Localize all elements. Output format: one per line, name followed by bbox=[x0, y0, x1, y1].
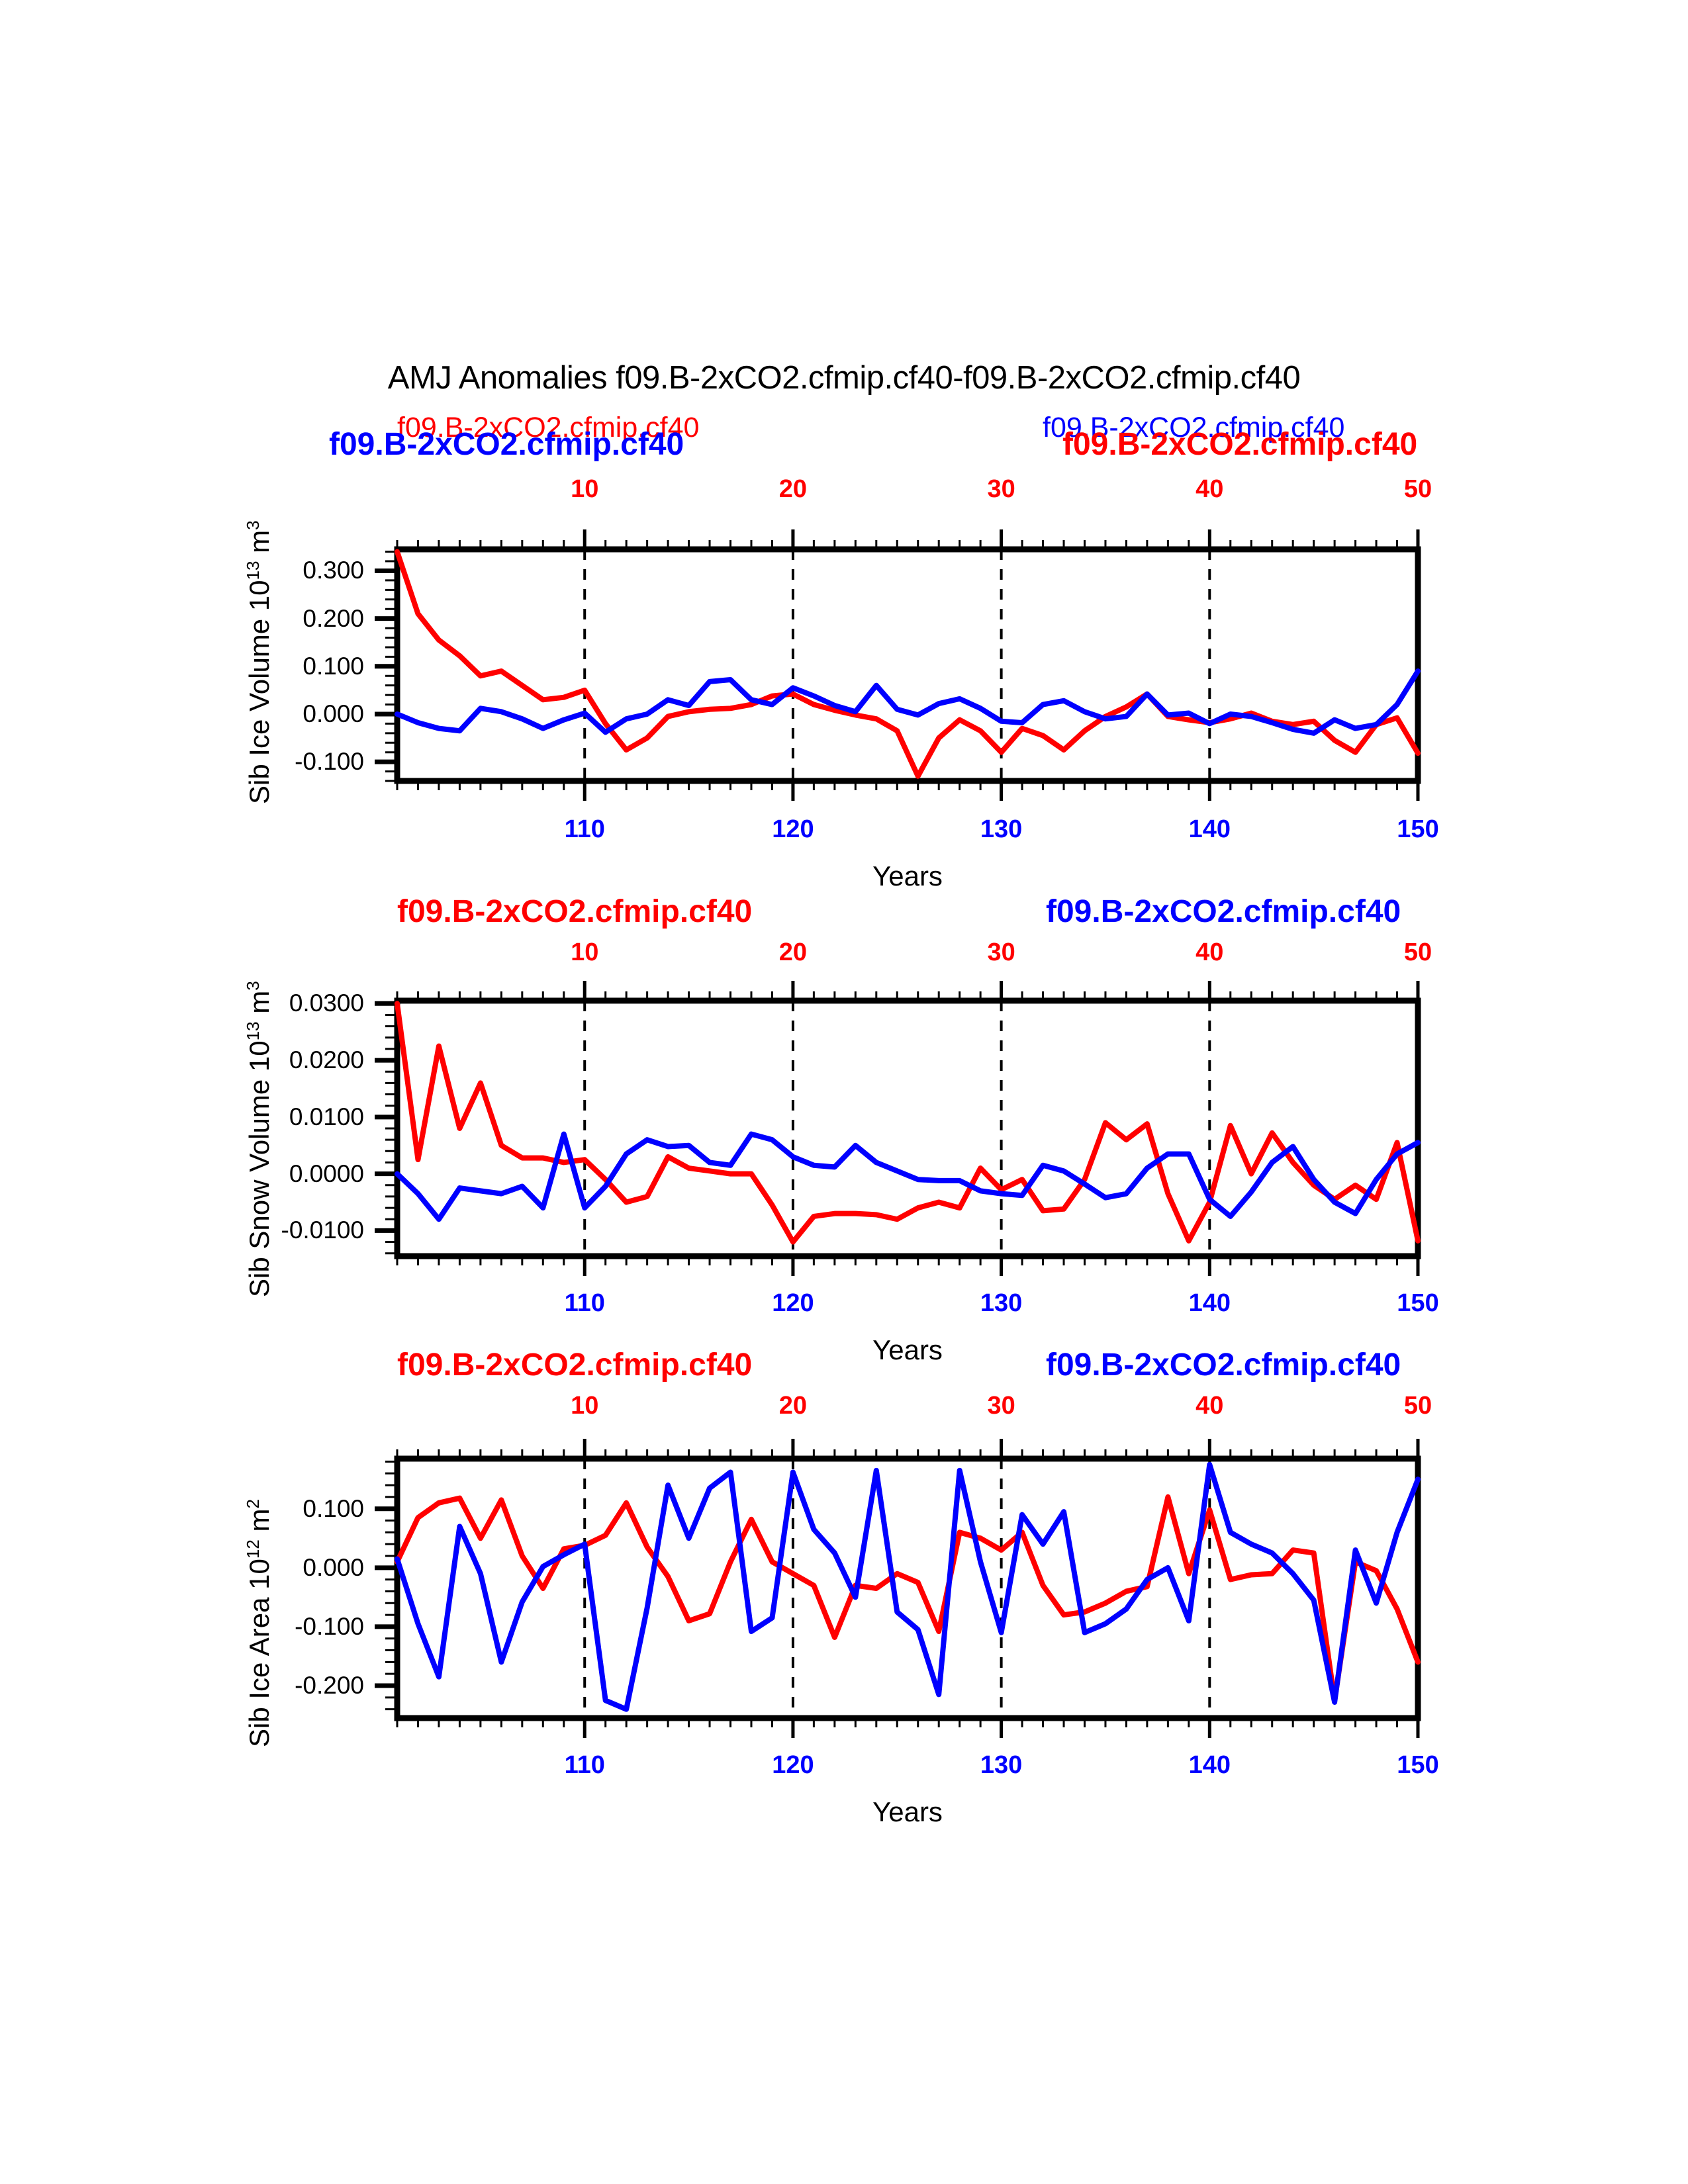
y-axis-title-exponent: 13 bbox=[243, 1021, 263, 1040]
y-tick-label: 0.100 bbox=[212, 1495, 364, 1523]
y-tick-label: -0.100 bbox=[212, 1613, 364, 1641]
y-tick-label: 0.0300 bbox=[212, 989, 364, 1017]
y-axis-title-unit-text: m bbox=[244, 991, 275, 1014]
x-tick-label-top: 20 bbox=[779, 1392, 807, 1420]
y-axis-title: Sib Ice Volume 1013 m3 bbox=[244, 520, 275, 804]
x-tick-label-bottom: 150 bbox=[1397, 1289, 1438, 1318]
y-axis-title-unit-exponent: 3 bbox=[243, 520, 263, 529]
page-title: AMJ Anomalies f09.B-2xCO2.cfmip.cf40-f09… bbox=[0, 359, 1688, 396]
x-axis-title: Years bbox=[872, 860, 943, 892]
x-tick-label-top: 50 bbox=[1404, 475, 1432, 504]
x-tick-label-top: 40 bbox=[1196, 938, 1223, 967]
series-line-red bbox=[397, 552, 1418, 776]
y-tick-label: 0.300 bbox=[212, 557, 364, 584]
x-axis-title: Years bbox=[872, 1334, 943, 1366]
x-tick-label-bottom: 120 bbox=[772, 1751, 814, 1780]
x-tick-label-top: 10 bbox=[571, 1392, 598, 1420]
legend-blue-right: f09.B-2xCO2.cfmip.cf40 bbox=[1046, 893, 1401, 930]
y-axis-title-unit bbox=[244, 1014, 275, 1022]
x-tick-label-bottom: 140 bbox=[1189, 815, 1231, 844]
x-tick-label-bottom: 110 bbox=[565, 815, 605, 844]
x-tick-label-bottom: 120 bbox=[772, 1289, 814, 1318]
plot-frame bbox=[397, 1459, 1418, 1718]
x-tick-label-top: 20 bbox=[779, 475, 807, 504]
y-tick-label: -0.200 bbox=[212, 1672, 364, 1700]
x-tick-label-bottom: 150 bbox=[1397, 815, 1438, 844]
y-tick-label: 0.0200 bbox=[212, 1046, 364, 1074]
series-line-red bbox=[397, 1497, 1418, 1700]
chart-page: AMJ Anomalies f09.B-2xCO2.cfmip.cf40-f09… bbox=[0, 0, 1688, 2184]
x-tick-label-top: 30 bbox=[987, 938, 1015, 967]
y-axis-title-unit-exponent: 2 bbox=[243, 1499, 263, 1508]
x-tick-label-bottom: 130 bbox=[980, 1751, 1022, 1780]
plot-frame bbox=[397, 549, 1418, 781]
y-axis-title-text: Sib Ice Volume 10 bbox=[244, 580, 275, 804]
series-line-blue bbox=[397, 671, 1418, 733]
x-tick-label-bottom: 110 bbox=[565, 1289, 605, 1318]
y-axis-title-exponent: 13 bbox=[243, 561, 263, 580]
x-tick-label-bottom: 130 bbox=[980, 1289, 1022, 1318]
legend-red-left: f09.B-2xCO2.cfmip.cf40 bbox=[397, 1347, 752, 1383]
y-axis-title-text: Sib Ice Area 10 bbox=[244, 1559, 275, 1747]
y-tick-label: 0.200 bbox=[212, 605, 364, 633]
x-tick-label-top: 20 bbox=[779, 938, 807, 967]
x-tick-label-top: 30 bbox=[987, 1392, 1015, 1420]
x-tick-label-bottom: 130 bbox=[980, 815, 1022, 844]
x-tick-label-top: 30 bbox=[987, 475, 1015, 504]
y-axis-title-unit-text: m bbox=[244, 530, 275, 553]
legend-blue-left: f09.B-2xCO2.cfmip.cf40 bbox=[329, 426, 684, 463]
y-tick-label: -0.100 bbox=[212, 748, 364, 776]
series-line-blue bbox=[397, 1465, 1418, 1709]
y-tick-label: -0.0100 bbox=[212, 1216, 364, 1244]
y-axis-title-unit-exponent: 3 bbox=[243, 981, 263, 990]
legend-red-right: f09.B-2xCO2.cfmip.cf40 bbox=[1062, 426, 1417, 463]
x-tick-label-bottom: 120 bbox=[772, 815, 814, 844]
x-tick-label-bottom: 110 bbox=[565, 1751, 605, 1780]
x-tick-label-top: 10 bbox=[571, 938, 598, 967]
series-line-red bbox=[397, 1003, 1418, 1242]
x-tick-label-bottom: 140 bbox=[1189, 1751, 1231, 1780]
legend-blue-right: f09.B-2xCO2.cfmip.cf40 bbox=[1046, 1347, 1401, 1383]
y-tick-label: 0.000 bbox=[212, 1554, 364, 1582]
y-axis-title: Sib Snow Volume 1013 m3 bbox=[244, 981, 275, 1297]
y-axis-title-text: Sib Snow Volume 10 bbox=[244, 1040, 275, 1297]
y-axis-title: Sib Ice Area 1012 m2 bbox=[244, 1499, 275, 1747]
y-tick-label: 0.000 bbox=[212, 700, 364, 728]
y-axis-title-unit bbox=[244, 553, 275, 561]
x-tick-label-bottom: 140 bbox=[1189, 1289, 1231, 1318]
x-tick-label-top: 40 bbox=[1196, 1392, 1223, 1420]
y-axis-title-unit bbox=[244, 1532, 275, 1540]
series-line-blue bbox=[397, 1134, 1418, 1220]
x-axis-title: Years bbox=[872, 1796, 943, 1828]
legend-red-left: f09.B-2xCO2.cfmip.cf40 bbox=[397, 893, 752, 930]
y-axis-title-unit-text: m bbox=[244, 1509, 275, 1532]
x-tick-label-top: 10 bbox=[571, 475, 598, 504]
x-tick-label-bottom: 150 bbox=[1397, 1751, 1438, 1780]
x-tick-label-top: 50 bbox=[1404, 1392, 1432, 1420]
x-tick-label-top: 40 bbox=[1196, 475, 1223, 504]
y-tick-label: 0.0100 bbox=[212, 1103, 364, 1131]
y-tick-label: 0.100 bbox=[212, 653, 364, 680]
y-axis-title-exponent: 12 bbox=[243, 1539, 263, 1559]
plot-frame bbox=[397, 1001, 1418, 1256]
x-tick-label-top: 50 bbox=[1404, 938, 1432, 967]
y-tick-label: 0.0000 bbox=[212, 1160, 364, 1188]
